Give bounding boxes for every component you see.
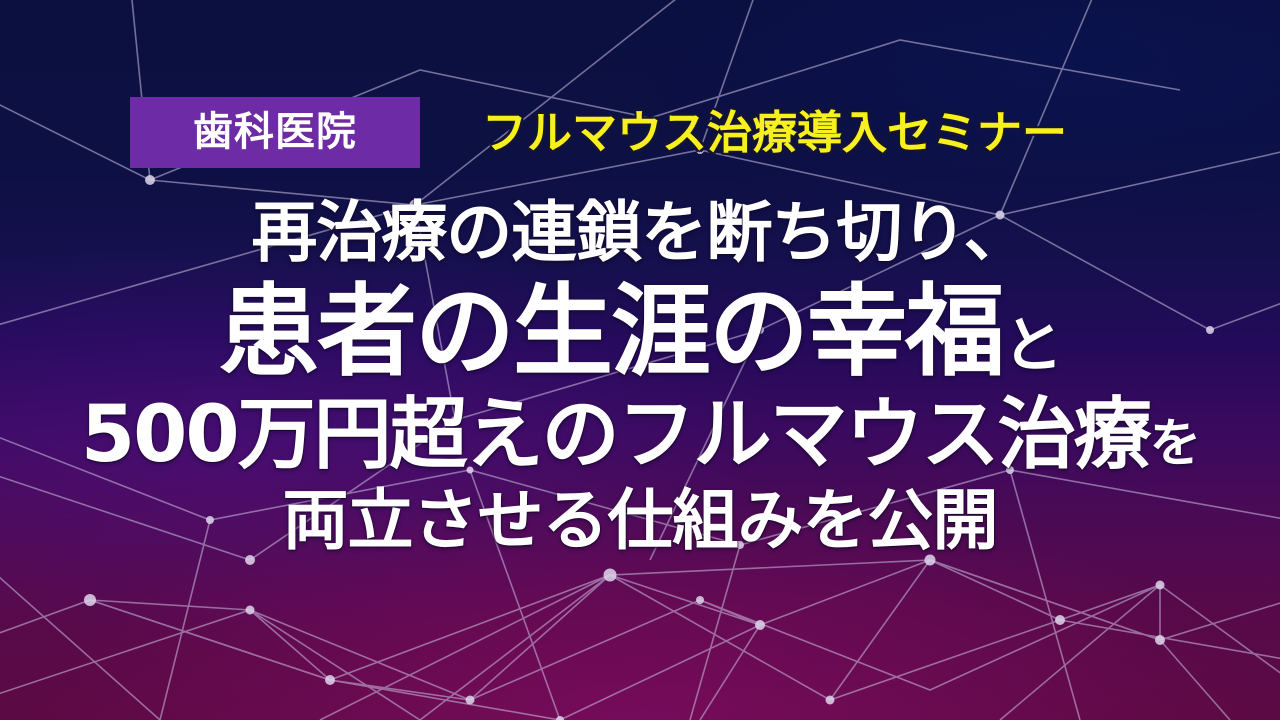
headline-line-1: 再治療の連鎖を断ち切り、	[0, 200, 1280, 266]
headline-line-3-main: 500万円超えのフルマウス治療	[81, 390, 1150, 480]
headline-line-2-particle: と	[1003, 311, 1061, 381]
category-badge: 歯科医院	[130, 97, 420, 168]
headline-line-2: 患者の生涯の幸福と	[0, 282, 1280, 382]
seminar-title-slide: 歯科医院 フルマウス治療導入セミナー 再治療の連鎖を断ち切り、 患者の生涯の幸福…	[0, 0, 1280, 720]
headline-line-2-main: 患者の生涯の幸福	[219, 273, 1003, 390]
headline-block: 再治療の連鎖を断ち切り、 患者の生涯の幸福と 500万円超えのフルマウス治療を …	[0, 200, 1280, 554]
eyebrow-row: 歯科医院 フルマウス治療導入セミナー	[0, 96, 1280, 168]
headline-line-4: 両立させる仕組みを公開	[0, 488, 1280, 554]
headline-line-3: 500万円超えのフルマウス治療を	[0, 396, 1280, 474]
headline-line-3-particle: を	[1150, 414, 1199, 474]
slide-content: 歯科医院 フルマウス治療導入セミナー 再治療の連鎖を断ち切り、 患者の生涯の幸福…	[0, 0, 1280, 720]
seminar-title: フルマウス治療導入セミナー	[482, 110, 1067, 155]
